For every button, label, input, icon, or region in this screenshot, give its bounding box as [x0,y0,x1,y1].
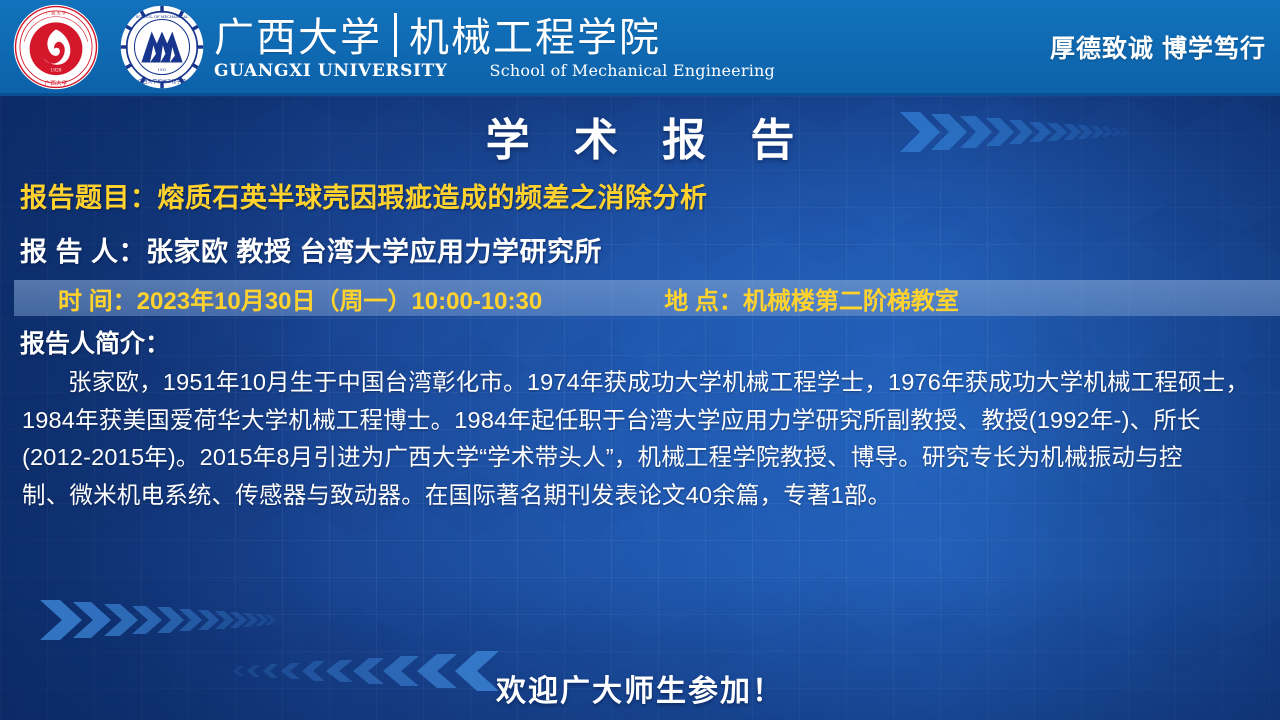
school-of-mechanical-engineering-seal-icon: SCHOOL OF MECHANICAL 1932 广西大学机械工程学院 [116,4,208,90]
speaker-value: 张家欧 教授 台湾大学应用力学研究所 [146,237,602,267]
time-label: 时 间： [14,281,137,316]
university-name-en: GUANGXI UNIVERSITY [214,61,448,81]
school-name-en: School of Mechanical Engineering [490,61,775,80]
bio-heading: 报告人简介： [20,324,170,360]
svg-text:SCHOOL OF MECHANICAL: SCHOOL OF MECHANICAL [136,14,189,18]
topic-label: 报告题目： [20,183,158,213]
bio-paragraph-4: 制、微米机电系统、传感器与致动器。在国际著名期刊发表论文40余篇，专著1部。 [22,477,1264,515]
header-wordmark: 广西大学 机械工程学院 GUANGXI UNIVERSITY School of… [214,13,775,81]
bio-paragraph-2: 1984年获美国爱荷华大学机械工程博士。1984年起任职于台湾大学应用力学研究所… [22,402,1264,440]
svg-text:1932: 1932 [158,68,167,72]
bio-body: 张家欧，1951年10月生于中国台湾彰化市。1974年获成功大学机械工程学士，1… [22,364,1264,514]
place-label: 地 点： [664,281,743,316]
page-header: 广 西 大 学 1928 广西大学 [0,0,1280,96]
bio-paragraph-3: (2012-2015年)。2015年8月引进为广西大学“学术带头人”，机械工程学… [22,439,1264,477]
svg-text:广 西 大 学: 广 西 大 学 [46,9,66,15]
school-name-cn: 机械工程学院 [409,17,661,59]
speaker-line: 报 告 人：张家欧 教授 台湾大学应用力学研究所 [20,230,602,269]
speaker-label: 报 告 人： [20,237,146,267]
university-name-cn: 广西大学 [214,17,382,59]
time-place-band: 时 间： 2023年10月30日（周一）10:00-10:30 地 点： 机械楼… [14,280,1280,316]
welcome-message: 欢迎广大师生参加！ [0,666,1280,710]
place-value: 机械楼第二阶梯教室 [743,281,959,316]
page-title: 学 术 报 告 [0,104,1280,168]
svg-text:广西大学: 广西大学 [45,78,68,86]
wordmark-divider [394,13,397,57]
topic-line: 报告题目：熔质石英半球壳因瑕疵造成的频差之消除分析 [20,176,708,215]
bio-paragraph-1: 张家欧，1951年10月生于中国台湾彰化市。1974年获成功大学机械工程学士，1… [22,364,1264,402]
topic-value: 熔质石英半球壳因瑕疵造成的频差之消除分析 [158,183,708,213]
svg-text:1928: 1928 [50,68,61,73]
university-motto: 厚德致诚 博学笃行 [1050,29,1266,65]
lecture-poster: 广 西 大 学 1928 广西大学 [0,0,1280,720]
time-value: 2023年10月30日（周一）10:00-10:30 [137,281,543,316]
guangxi-university-seal-icon: 广 西 大 学 1928 广西大学 [8,3,104,91]
